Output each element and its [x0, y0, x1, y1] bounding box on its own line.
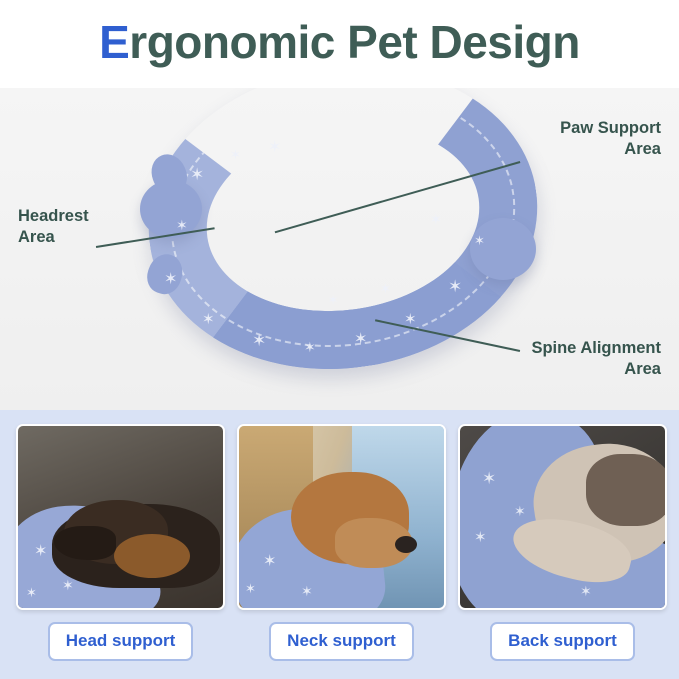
star-icon: ✶ — [230, 148, 241, 161]
star-icon: ✶ — [448, 278, 462, 295]
callout-paw-support: Paw Support Area — [560, 118, 661, 159]
star-icon: ✶ — [202, 312, 215, 327]
star-icon: ✶ — [430, 212, 442, 226]
star-icon: ✶ — [62, 578, 74, 592]
star-icon: ✶ — [301, 584, 313, 598]
header: Ergonomic Pet Design — [0, 0, 679, 88]
callout-spine-alignment: Spine Alignment Area — [531, 338, 661, 379]
gallery-card-head-support: ✶ ✶ ✶ Head support — [16, 424, 225, 669]
product-infographic: Ergonomic Pet Design ✶ ✶ ✶ ✶ ✶ ✶ ✶ ✶ ✶ ✶… — [0, 0, 679, 679]
gallery-card-back-support: ✶ ✶ ✶ ✶ Back support — [458, 424, 667, 669]
callout-headrest: Headrest Area — [18, 206, 89, 247]
star-icon: ✶ — [482, 470, 496, 487]
star-icon: ✶ — [164, 272, 177, 288]
photo-head-support: ✶ ✶ ✶ — [16, 424, 225, 610]
gallery: ✶ ✶ ✶ Head support ✶ ✶ ✶ Neck support — [0, 410, 679, 679]
star-icon: ✶ — [304, 340, 316, 354]
star-icon: ✶ — [176, 218, 188, 232]
photo-back-support: ✶ ✶ ✶ ✶ — [458, 424, 667, 610]
star-icon: ✶ — [328, 294, 338, 306]
star-icon: ✶ — [263, 554, 276, 570]
page-title: Ergonomic Pet Design — [99, 19, 580, 65]
star-icon: ✶ — [474, 234, 485, 247]
dog-shirt — [586, 454, 667, 526]
star-icon: ✶ — [190, 166, 204, 183]
caption-head-support: Head support — [48, 622, 194, 661]
dog-nose — [395, 536, 417, 553]
dog-marking — [114, 534, 190, 578]
gallery-card-neck-support: ✶ ✶ ✶ Neck support — [237, 424, 446, 669]
star-icon: ✶ — [26, 586, 37, 599]
star-icon: ✶ — [380, 282, 391, 295]
star-icon: ✶ — [474, 530, 487, 545]
hero-illustration: ✶ ✶ ✶ ✶ ✶ ✶ ✶ ✶ ✶ ✶ ✶ ✶ ✶ ✶ ✶ Paw Suppor… — [0, 88, 679, 410]
title-accent-letter: E — [99, 16, 129, 68]
caption-back-support: Back support — [490, 622, 635, 661]
star-icon: ✶ — [514, 504, 526, 518]
pillow-end-right — [470, 218, 536, 280]
star-icon: ✶ — [245, 582, 256, 595]
star-icon: ✶ — [252, 332, 266, 349]
star-icon: ✶ — [268, 140, 281, 156]
star-icon: ✶ — [34, 544, 47, 560]
caption-neck-support: Neck support — [269, 622, 414, 661]
star-icon: ✶ — [354, 332, 367, 348]
star-icon: ✶ — [580, 584, 592, 598]
title-rest: rgonomic Pet Design — [129, 16, 580, 68]
photo-neck-support: ✶ ✶ ✶ — [237, 424, 446, 610]
